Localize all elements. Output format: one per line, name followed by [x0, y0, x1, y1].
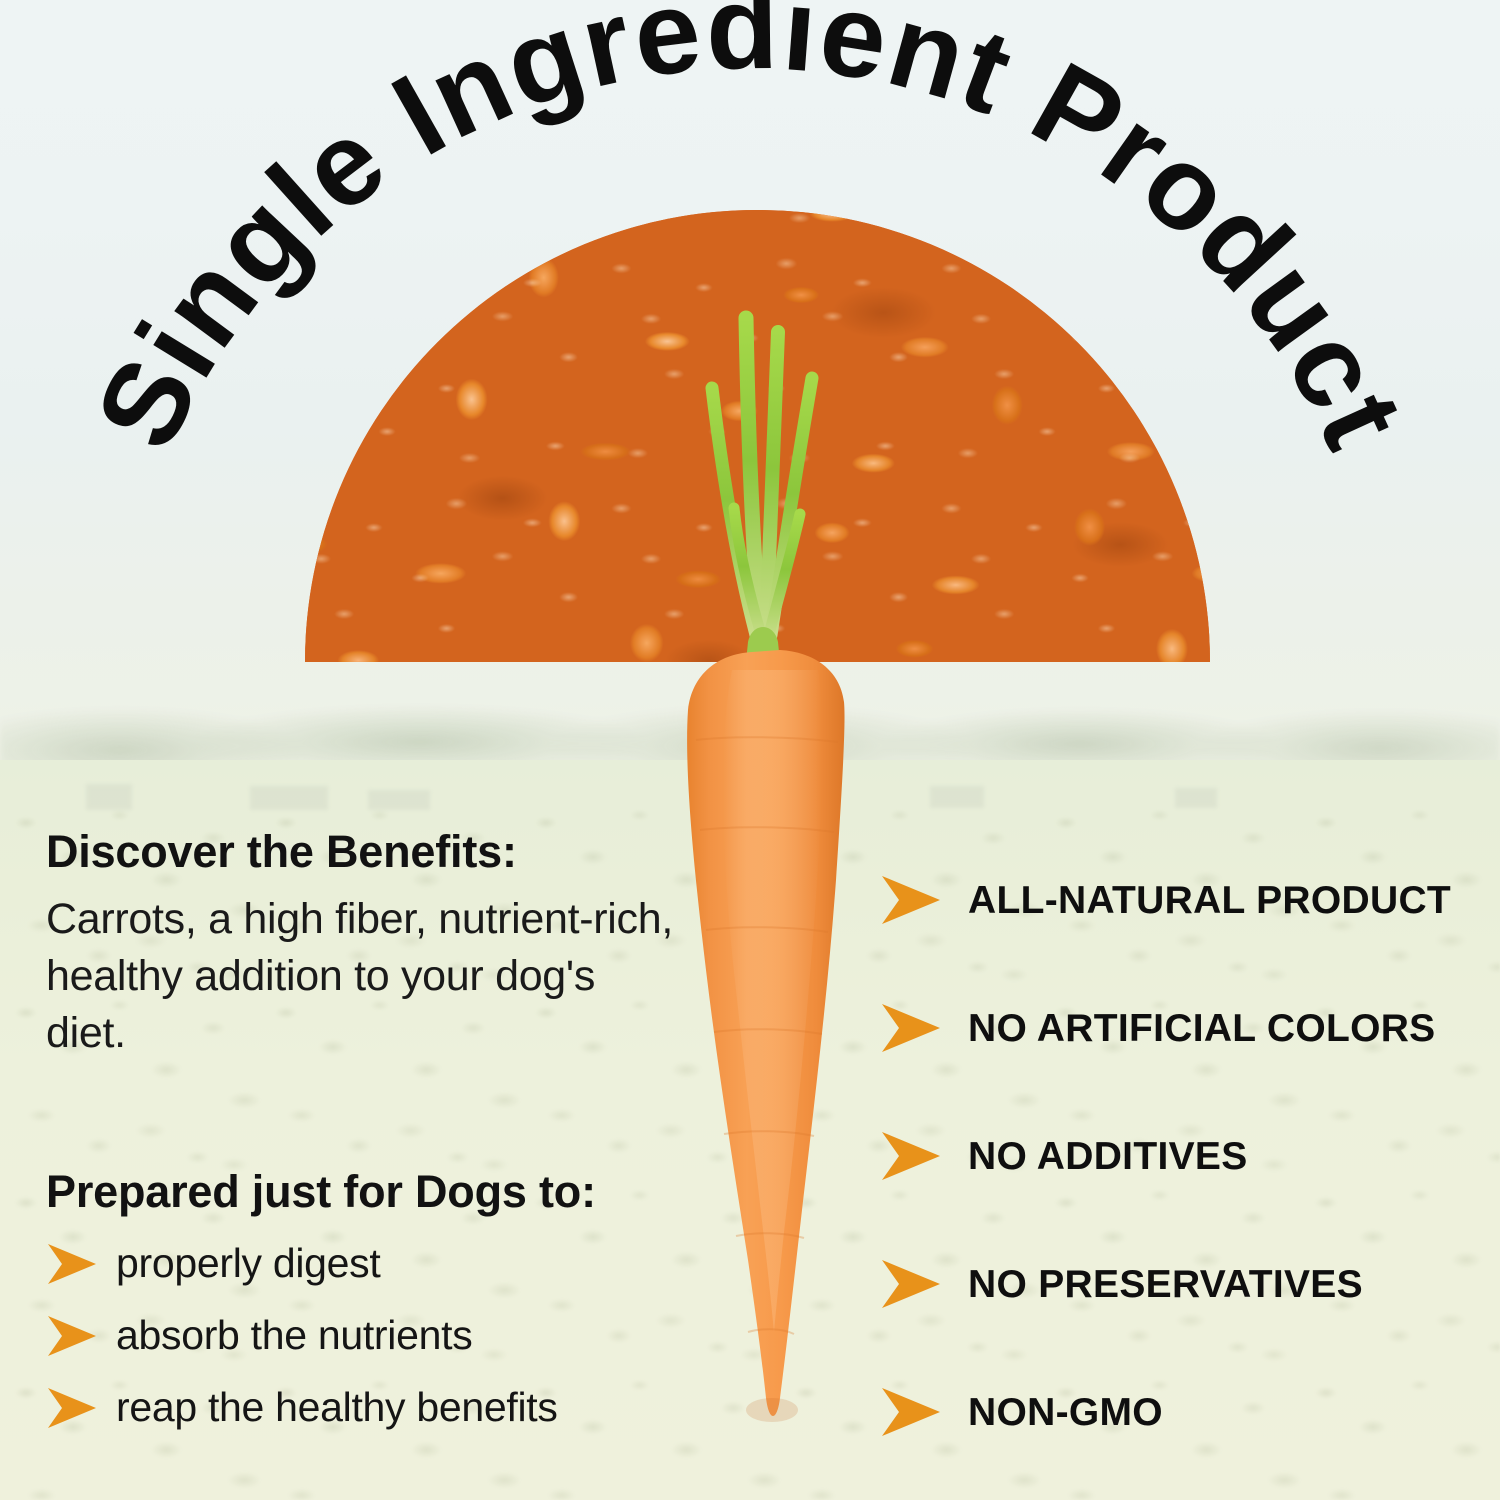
- list-item-label: absorb the nutrients: [116, 1313, 472, 1358]
- benefits-heading: Discover the Benefits:: [46, 828, 676, 877]
- list-item-label: NO ADDITIVES: [968, 1137, 1248, 1176]
- arrow-right-icon: [880, 1130, 942, 1182]
- list-item-label: NO PRESERVATIVES: [968, 1265, 1363, 1304]
- prepared-list: properly digest absorb the nutrients rea…: [46, 1235, 686, 1437]
- arrow-right-icon: [880, 1258, 942, 1310]
- list-item-label: properly digest: [116, 1241, 380, 1286]
- list-item[interactable]: NON-GMO: [880, 1348, 1480, 1476]
- features-list: ALL-NATURAL PRODUCT NO ARTIFICIAL COLORS…: [880, 836, 1480, 1476]
- prepared-block: Prepared just for Dogs to: properly dige…: [46, 1168, 686, 1451]
- list-item[interactable]: ALL-NATURAL PRODUCT: [880, 836, 1480, 964]
- list-item-label: ALL-NATURAL PRODUCT: [968, 881, 1451, 920]
- arrow-right-icon: [46, 1386, 98, 1430]
- list-item[interactable]: properly digest: [46, 1235, 686, 1293]
- arrow-right-icon: [46, 1242, 98, 1286]
- infographic-canvas: Single Ingredient Product: [0, 0, 1500, 1500]
- arrow-right-icon: [880, 874, 942, 926]
- arrow-right-icon: [46, 1314, 98, 1358]
- benefits-body: Carrots, a high fiber, nutrient-rich, he…: [46, 891, 676, 1063]
- list-item-label: NON-GMO: [968, 1393, 1163, 1432]
- carrot-stems: [712, 318, 812, 638]
- list-item[interactable]: reap the healthy benefits: [46, 1379, 686, 1437]
- list-item[interactable]: NO ADDITIVES: [880, 1092, 1480, 1220]
- list-item-label: NO ARTIFICIAL COLORS: [968, 1009, 1436, 1048]
- list-item[interactable]: NO ARTIFICIAL COLORS: [880, 964, 1480, 1092]
- list-item[interactable]: NO PRESERVATIVES: [880, 1220, 1480, 1348]
- benefits-block: Discover the Benefits: Carrots, a high f…: [46, 828, 676, 1062]
- arrow-right-icon: [880, 1002, 942, 1054]
- list-item-label: reap the healthy benefits: [116, 1385, 558, 1430]
- arrow-right-icon: [880, 1386, 942, 1438]
- list-item[interactable]: absorb the nutrients: [46, 1307, 686, 1365]
- prepared-heading: Prepared just for Dogs to:: [46, 1168, 686, 1217]
